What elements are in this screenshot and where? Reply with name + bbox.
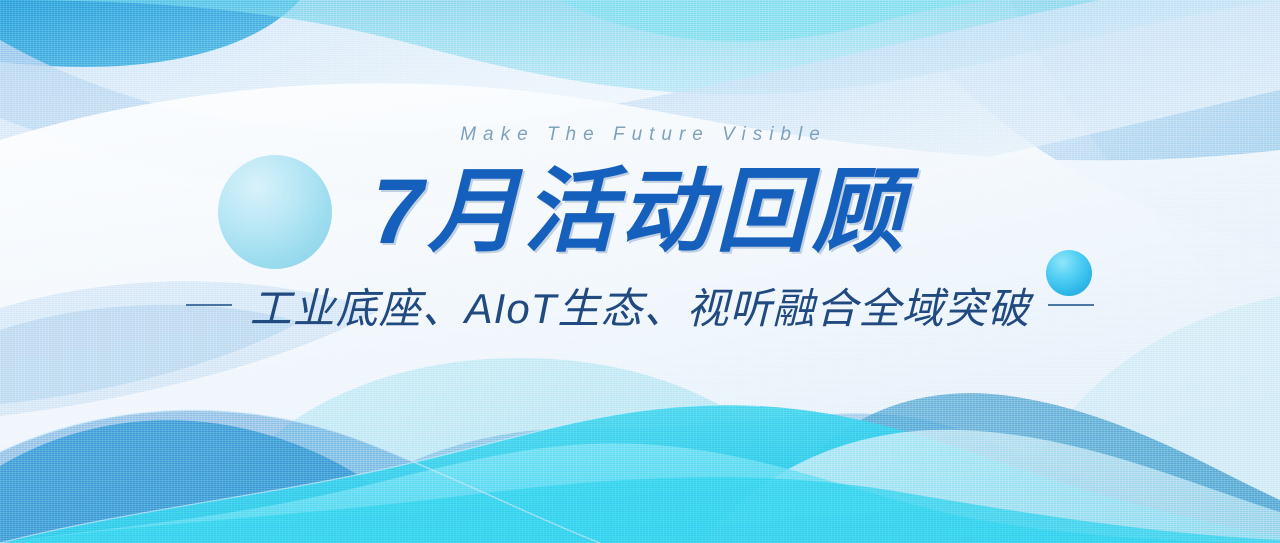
tagline: Make The Future Visible xyxy=(453,124,827,146)
event-review-banner: Make The Future Visible 7月活动回顾 工业底座、AIoT… xyxy=(0,0,1280,543)
banner-content: Make The Future Visible 7月活动回顾 工业底座、AIoT… xyxy=(0,0,1280,543)
page-title: 7月活动回顾 xyxy=(372,164,907,261)
dash-right-icon xyxy=(1048,304,1094,306)
cyan-sphere-icon xyxy=(1046,250,1092,296)
paper-grain-texture xyxy=(0,0,1280,543)
dash-left-icon xyxy=(186,304,232,306)
background-waves xyxy=(0,0,1280,543)
subtitle-row: 工业底座、AIoT生态、视听融合全域突破 xyxy=(186,275,1095,336)
light-blue-sphere-icon xyxy=(218,155,332,269)
subtitle: 工业底座、AIoT生态、视听融合全域突破 xyxy=(250,275,1031,336)
